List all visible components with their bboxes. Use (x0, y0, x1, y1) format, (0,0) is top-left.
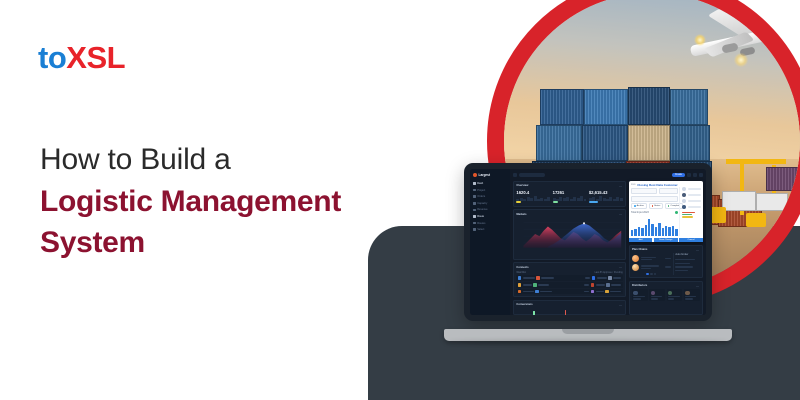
stat-chip (516, 201, 521, 202)
table-row[interactable] (516, 282, 622, 287)
sidebar-item-label: Revenue (477, 208, 487, 211)
distributor-cards (632, 289, 700, 301)
create-button[interactable]: Create (672, 173, 685, 177)
logo-text-x: X (66, 40, 86, 75)
search-input[interactable] (631, 188, 657, 194)
sidebar-item-dash[interactable]: Dash (473, 182, 507, 185)
container-blue (584, 89, 628, 125)
avatar (682, 199, 687, 204)
list-item[interactable] (682, 205, 701, 210)
filter-icon[interactable] (687, 173, 691, 177)
airplane-light (694, 34, 706, 46)
overview-card: Overview ⋯ 1620.4 (513, 181, 626, 207)
series-b-area (548, 223, 621, 247)
container-blue (536, 125, 582, 161)
distributor-card[interactable] (684, 289, 700, 301)
overview-title-row: Overview ⋯ (516, 184, 622, 188)
sidebar-item-label: Dash (477, 182, 483, 185)
forklift (746, 213, 766, 227)
logo-text-to: to (38, 40, 66, 75)
folder-icon (473, 189, 476, 192)
dashboard-brand: Largest (473, 173, 507, 177)
stat-value: 17261 (553, 190, 587, 195)
area-chart-svg (516, 218, 622, 250)
avatar (668, 291, 672, 295)
container-blue (582, 125, 628, 161)
row-icon (535, 290, 538, 293)
sidebar-item-label: Orders (477, 195, 485, 198)
row-icon (518, 290, 521, 293)
list-item[interactable] (682, 199, 701, 204)
poster-canvas: Largest Dash Project Orders Capacity Rev… (0, 0, 800, 400)
more-icon[interactable]: ⋯ (619, 265, 622, 269)
status-dot-icon (675, 211, 678, 214)
sidebar-item-select[interactable]: Select (473, 228, 507, 231)
container-blue (670, 125, 710, 161)
conversions-title-row: Conversions ⋯ (516, 303, 622, 307)
toxsl-logo[interactable]: toXSL (38, 42, 125, 73)
row-icon (591, 283, 594, 286)
stat-card: 17261 (553, 190, 587, 204)
airplane-light (734, 53, 748, 67)
plan-side-title: Auto broker (675, 253, 699, 256)
cancel-button[interactable]: Cancel (679, 238, 703, 242)
chip-label: Status (654, 205, 660, 207)
crane-boom (726, 159, 786, 164)
coin-icon (473, 209, 476, 212)
conversions-card: Conversions ⋯ (513, 300, 626, 315)
headline-line-3: System (40, 223, 380, 263)
row-icon (518, 283, 521, 286)
dashboard-nav: Dash Project Orders Capacity Revenue Rou… (473, 182, 507, 231)
airplane-icon (676, 13, 786, 65)
overlay-chart-title: Total Input 2023 (631, 211, 649, 214)
markets-card: Markets ⋯ (513, 209, 626, 260)
status-chip[interactable]: Archive (631, 203, 647, 208)
route-icon (473, 215, 476, 218)
laptop-lid: Largest Dash Project Orders Capacity Rev… (464, 163, 712, 321)
sparkline (589, 196, 623, 201)
more-icon[interactable]: ⋯ (619, 212, 622, 216)
stat-card: 1620.4 (516, 190, 550, 204)
plan-title-row: Plan Chains ⋯ (632, 248, 700, 252)
row-icon (591, 290, 594, 293)
card-title: Overview (516, 184, 528, 187)
dashboard-topbar: Create (513, 172, 703, 178)
legend-bar (682, 214, 692, 215)
avatar (682, 193, 687, 198)
gauge-icon (473, 202, 476, 205)
pager-dot[interactable] (646, 273, 648, 275)
avatar (633, 291, 637, 295)
sparkline (553, 196, 587, 201)
dashboard-right-column: Live Closing Rest Data Customer (629, 181, 703, 315)
markets-area-chart (516, 218, 622, 257)
sidebar-item-revenue[interactable]: Revenue (473, 208, 507, 211)
breadcrumb (519, 173, 545, 177)
row-icon (518, 276, 521, 279)
overlay-field-row (631, 196, 678, 202)
dashboard-sidebar: Largest Dash Project Orders Capacity Rev… (470, 169, 510, 315)
container-blue (628, 87, 670, 125)
sidebar-item-label: Capacity (477, 202, 487, 205)
brand-dot-icon (473, 173, 477, 177)
candlestick-chart (516, 309, 622, 315)
row-icon (536, 276, 539, 279)
table-row[interactable] (516, 289, 622, 294)
sidebar-item-label: Routes (477, 222, 485, 225)
overview-stats: 1620.4 17261 (516, 190, 622, 204)
table-row[interactable] (516, 275, 622, 280)
sidebar-item-label: Route (477, 215, 484, 218)
row-icon (608, 276, 611, 279)
connects-meta: Last 8h Approve / Pending (595, 271, 623, 274)
dashboard-app: Largest Dash Project Orders Capacity Rev… (470, 169, 706, 315)
logo-text-sl: SL (86, 40, 125, 75)
airplane-engine (721, 42, 738, 53)
distributors-card: Distributors ⋯ (629, 281, 703, 315)
card-title: Plan Chains (632, 248, 647, 251)
card-title: Conversions (516, 303, 532, 306)
more-icon[interactable]: ⋯ (696, 248, 699, 252)
dashboard-columns: Overview ⋯ 1620.4 (513, 181, 703, 315)
sidebar-item-project[interactable]: Project (473, 189, 507, 192)
laptop-screen: Largest Dash Project Orders Capacity Rev… (470, 169, 706, 315)
add-button[interactable]: Add (629, 238, 653, 242)
distributors-title-row: Distributors ⋯ (632, 284, 700, 288)
connects-subtitle: Watchlist (516, 271, 526, 274)
bell-icon[interactable] (693, 173, 697, 177)
data-point-marker (583, 222, 585, 224)
legend-bar (682, 212, 695, 213)
container-purple (766, 167, 800, 191)
sidebar-item-label: Project (477, 189, 485, 192)
status-chip[interactable]: Status (649, 203, 664, 208)
planet-icon (632, 264, 639, 271)
stat-value: $2,615.43 (589, 190, 623, 195)
overlay-people-list (679, 187, 700, 236)
planet-icon (632, 255, 639, 262)
connects-title-row: Connects ⋯ (516, 265, 622, 269)
overlay-chip-row: Archive Status Complete (631, 203, 678, 208)
sidebar-item-orders[interactable]: Orders (473, 195, 507, 198)
pager-dot[interactable] (654, 273, 656, 275)
map-icon (473, 222, 476, 225)
brand-label: Largest (479, 173, 491, 177)
list-item[interactable] (682, 193, 701, 198)
avatar (651, 291, 655, 295)
row-icon (606, 283, 609, 286)
more-icon[interactable]: ⋯ (696, 284, 699, 288)
sidebar-item-routes[interactable]: Routes (473, 222, 507, 225)
sparkline (516, 196, 550, 201)
avatar (685, 291, 689, 295)
grid-icon (473, 182, 476, 185)
select-field[interactable] (659, 188, 678, 194)
overlay-bar-chart (631, 216, 678, 236)
pager-dot[interactable] (650, 273, 652, 275)
avatar (682, 187, 687, 192)
gear-icon[interactable] (699, 173, 703, 177)
container-blue (670, 89, 708, 125)
save-button[interactable]: Save Change (654, 238, 678, 242)
container-blue (540, 89, 584, 125)
container-beige (628, 125, 670, 161)
distributor-card[interactable] (632, 289, 648, 301)
row-icon (605, 290, 608, 293)
headline-line-2: Logistic Management (40, 182, 380, 222)
text-field[interactable] (631, 196, 678, 202)
row-icon (592, 276, 595, 279)
plan-row[interactable] (632, 264, 671, 271)
stat-chip (589, 201, 598, 202)
sidebar-item-capacity[interactable]: Capacity (473, 202, 507, 205)
card-title: Distributors (632, 284, 647, 287)
menu-icon[interactable] (513, 173, 517, 177)
more-icon[interactable]: ⋯ (619, 303, 622, 307)
laptop-mockup: Largest Dash Project Orders Capacity Rev… (444, 163, 732, 341)
dashboard-main: Create Overview ⋯ (510, 169, 706, 315)
legend-bar (682, 216, 694, 217)
connects-rows (516, 275, 622, 294)
stat-value: 1620.4 (516, 190, 550, 195)
connects-card: Connects ⋯ Watchlist Last 8h Approve / P… (513, 262, 626, 297)
truck-trailer (756, 193, 788, 211)
distributor-card[interactable] (667, 289, 683, 301)
headline-block: How to Build a Logistic Management Syste… (40, 140, 380, 263)
laptop-shadow (448, 340, 728, 344)
chip-label: Archive (637, 205, 644, 207)
list-item[interactable] (682, 187, 701, 192)
plan-chains-card: Plan Chains ⋯ (629, 245, 703, 278)
headline-line-1: How to Build a (40, 140, 380, 180)
stat-chip (553, 201, 558, 202)
card-title: Markets (516, 213, 526, 216)
overlay-actions: Add Save Change Cancel (629, 238, 703, 242)
avatar (682, 205, 687, 210)
markets-title-row: Markets ⋯ (516, 212, 622, 216)
sidebar-item-route[interactable]: Route (473, 215, 507, 218)
more-icon[interactable]: ⋯ (619, 184, 622, 188)
box-icon (473, 195, 476, 198)
card-title: Connects (516, 266, 528, 269)
distributor-card[interactable] (649, 289, 665, 301)
list-icon (473, 228, 476, 231)
dashboard-left-column: Overview ⋯ 1620.4 (513, 181, 626, 315)
plan-row[interactable] (632, 255, 671, 262)
row-icon (533, 283, 536, 286)
overlay-panel: Live Closing Rest Data Customer (629, 181, 703, 243)
stat-card: $2,615.43 (589, 190, 623, 204)
overlay-filter-row (631, 188, 678, 194)
sidebar-item-label: Select (477, 228, 484, 231)
